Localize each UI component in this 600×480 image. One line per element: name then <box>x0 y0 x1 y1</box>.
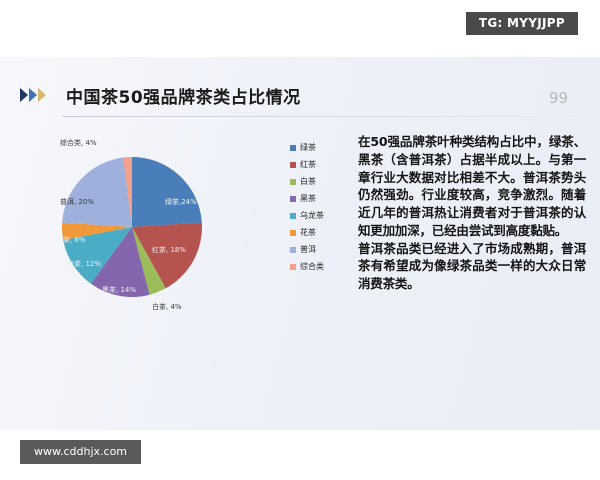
pie-label-flower-tea: 花茶, 6% <box>56 235 86 245</box>
slide-content-area: 中国茶50强品牌茶类占比情况 99 <box>18 69 582 418</box>
chevron-group-icon <box>20 88 46 102</box>
legend-item-oolong-tea: 乌龙茶 <box>290 207 352 224</box>
chevron-right-icon <box>38 88 46 102</box>
legend-label: 花茶 <box>300 227 316 238</box>
legend-label: 综合类 <box>300 261 324 272</box>
slide-canvas: 中国茶50强品牌茶类占比情况 99 <box>0 57 600 430</box>
pie-label-black-tea-red: 红茶, 18% <box>152 245 186 255</box>
legend-item-puer-tea: 普洱 <box>290 241 352 258</box>
footer-website-url: www.cddhjx.com <box>20 440 141 464</box>
legend-swatch-icon <box>290 264 296 270</box>
pie-label-dark-tea: 黑茶, 14% <box>102 285 136 295</box>
pie-label-puer-tea: 普洱, 20% <box>60 197 94 207</box>
page-title: 中国茶50强品牌茶类占比情况 <box>66 83 301 108</box>
title-divider <box>62 116 576 117</box>
slide-header: 中国茶50强品牌茶类占比情况 99 <box>18 83 576 117</box>
legend-item-white-tea: 白茶 <box>290 173 352 190</box>
pie-slice-green-tea <box>132 157 202 227</box>
pie-label-white-tea: 白茶, 4% <box>152 302 182 312</box>
legend-item-dark-tea: 黑茶 <box>290 190 352 207</box>
pie-label-green-tea: 绿茶,24% <box>165 197 197 207</box>
chevron-right-icon <box>20 88 28 102</box>
telegram-watermark-badge: TG: MYYJJPP <box>466 12 578 35</box>
legend-swatch-icon <box>290 179 296 185</box>
legend-item-black-tea-red: 红茶 <box>290 156 352 173</box>
legend-swatch-icon <box>290 196 296 202</box>
legend-label: 红茶 <box>300 159 316 170</box>
legend-label: 绿茶 <box>300 142 316 153</box>
chart-legend: 绿茶 红茶 白茶 黑茶 乌龙茶 <box>290 139 352 275</box>
legend-swatch-icon <box>290 247 296 253</box>
slide-body: 绿茶,24% 红茶, 18% 白茶, 4% 黑茶, 14% 乌龙茶, 12% 花… <box>18 125 582 418</box>
chevron-right-icon <box>29 88 37 102</box>
pie-chart-svg <box>28 135 288 320</box>
legend-label: 乌龙茶 <box>300 210 324 221</box>
pie-label-mixed-category: 综合类, 4% <box>60 138 97 148</box>
analysis-text-block: 在50强品牌茶叶种类结构占比中，绿茶、黑茶（含普洱茶）占据半成以上。与第一章行业… <box>358 133 586 293</box>
legend-item-flower-tea: 花茶 <box>290 224 352 241</box>
pie-slice-puer-tea <box>62 158 132 227</box>
legend-swatch-icon <box>290 145 296 151</box>
legend-label: 白茶 <box>300 176 316 187</box>
legend-swatch-icon <box>290 162 296 168</box>
analysis-paragraph-2: 普洱茶品类已经进入了市场成熟期，普洱茶有希望成为像绿茶品类一样的大众日常消费茶类… <box>358 240 586 293</box>
legend-item-mixed-category: 综合类 <box>290 258 352 275</box>
legend-label: 黑茶 <box>300 193 316 204</box>
legend-swatch-icon <box>290 213 296 219</box>
legend-label: 普洱 <box>300 244 316 255</box>
analysis-paragraph-1: 在50强品牌茶叶种类结构占比中，绿茶、黑茶（含普洱茶）占据半成以上。与第一章行业… <box>358 133 586 240</box>
pie-label-oolong-tea: 乌龙茶, 12% <box>60 259 101 269</box>
pie-chart: 绿茶,24% 红茶, 18% 白茶, 4% 黑茶, 14% 乌龙茶, 12% 花… <box>28 135 288 320</box>
legend-swatch-icon <box>290 230 296 236</box>
legend-item-green-tea: 绿茶 <box>290 139 352 156</box>
page-number: 99 <box>549 89 568 107</box>
